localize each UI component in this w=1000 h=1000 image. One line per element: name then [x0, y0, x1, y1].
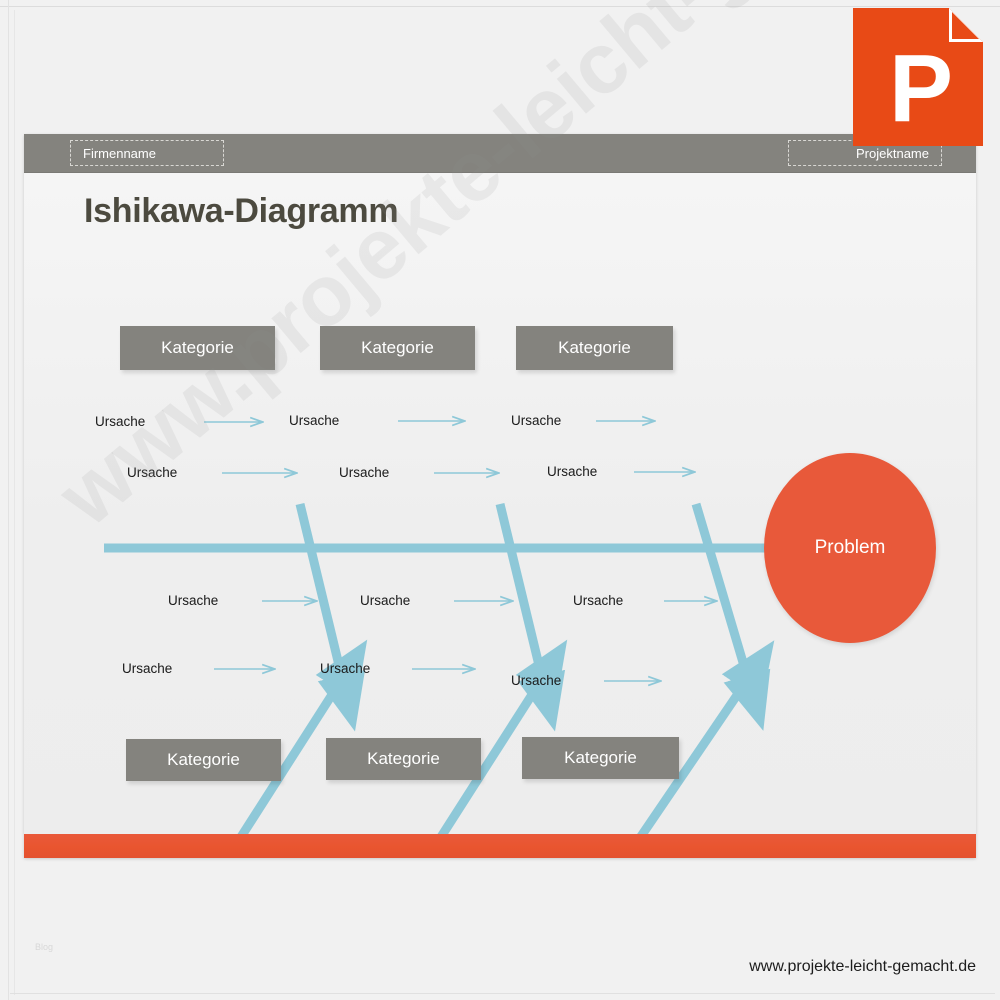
cause-arrow-group-upper	[204, 421, 694, 473]
site-url-footer: www.projekte-leicht-gemacht.de	[749, 958, 976, 976]
category-label: Kategorie	[167, 750, 240, 770]
screenshot-page: Firmenname Projektname Ishikawa-Diagramm	[0, 0, 1000, 1000]
cause-label-1[interactable]: Ursache	[95, 414, 145, 429]
presentation-slide[interactable]: Firmenname Projektname Ishikawa-Diagramm	[24, 134, 976, 858]
page-frame-left-line-2	[14, 10, 15, 995]
page-frame-left-line	[8, 0, 9, 1000]
cause-label-4[interactable]: Ursache	[339, 465, 389, 480]
category-label: Kategorie	[161, 338, 234, 358]
category-label: Kategorie	[558, 338, 631, 358]
problem-effect-oval[interactable]: Problem	[764, 453, 936, 643]
category-label: Kategorie	[564, 748, 637, 768]
category-box-bottom-1[interactable]: Kategorie	[126, 739, 281, 781]
category-box-bottom-2[interactable]: Kategorie	[326, 738, 481, 780]
slide-footer-accent-bar	[24, 834, 976, 858]
cause-label-8[interactable]: Ursache	[122, 661, 172, 676]
bone-upper-3	[696, 504, 750, 686]
cause-label-3[interactable]: Ursache	[289, 413, 339, 428]
category-label: Kategorie	[367, 749, 440, 769]
powerpoint-file-icon[interactable]: P	[853, 8, 983, 146]
bone-upper-2	[500, 504, 544, 686]
cause-label-10[interactable]: Ursache	[320, 661, 370, 676]
category-box-top-2[interactable]: Kategorie	[320, 326, 475, 370]
cause-label-2[interactable]: Ursache	[127, 465, 177, 480]
category-label: Kategorie	[361, 338, 434, 358]
cause-label-12[interactable]: Ursache	[511, 673, 561, 688]
powerpoint-letter: P	[889, 35, 953, 142]
page-frame-bottom-line	[10, 993, 995, 994]
cause-label-7[interactable]: Ursache	[168, 593, 218, 608]
problem-label: Problem	[815, 537, 886, 559]
cause-label-9[interactable]: Ursache	[360, 593, 410, 608]
cause-label-6[interactable]: Ursache	[547, 464, 597, 479]
category-box-top-1[interactable]: Kategorie	[120, 326, 275, 370]
category-box-top-3[interactable]: Kategorie	[516, 326, 673, 370]
category-box-bottom-3[interactable]: Kategorie	[522, 737, 679, 779]
cause-label-5[interactable]: Ursache	[511, 413, 561, 428]
cause-arrow-group-lower	[214, 601, 716, 681]
watermark-blog-text: Blog	[35, 942, 53, 952]
cause-label-11[interactable]: Ursache	[573, 593, 623, 608]
bone-upper-1	[300, 504, 344, 686]
page-frame-top-line	[0, 6, 1000, 7]
